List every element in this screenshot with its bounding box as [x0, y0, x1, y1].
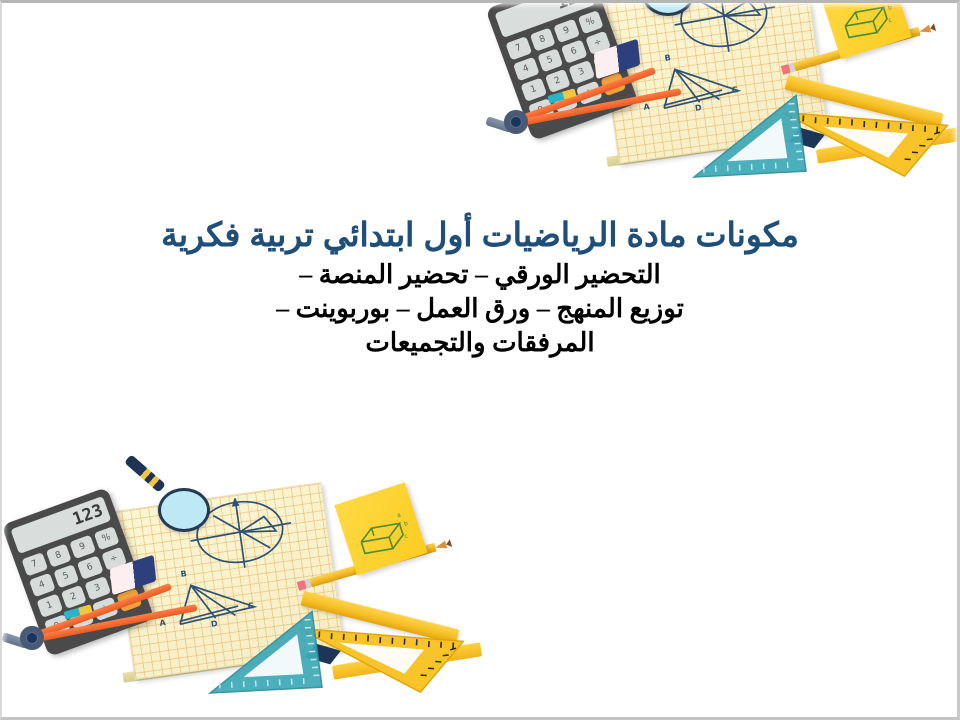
calculator-key: 7	[505, 36, 531, 60]
svg-text:b: b	[403, 520, 409, 528]
magnifier-handle	[124, 454, 166, 492]
calculator-key: 8	[529, 28, 555, 52]
cube-sketch-icon: a b c	[340, 488, 432, 580]
calculator-key: 8	[45, 544, 71, 568]
decoration-bottom-left: C²=L² B A C D x²+y 123 7 8 9 % 4 5 6	[14, 484, 484, 714]
calculator-key: 6	[561, 40, 587, 64]
svg-text:B: B	[664, 53, 671, 63]
svg-text:B: B	[180, 569, 187, 579]
compass	[6, 592, 226, 672]
slide-canvas: C²=L² B A C D x²+y 123 7 8 9 % 4 5	[0, 0, 960, 720]
calculator-key: 9	[69, 535, 95, 559]
svg-text:a: a	[396, 512, 402, 520]
page-title: مكونات مادة الرياضيات أول ابتدائي تربية …	[130, 215, 830, 255]
calculator-key: 5	[537, 48, 563, 72]
svg-text:c: c	[887, 17, 892, 25]
compass	[490, 76, 710, 156]
magnifier-icon	[158, 488, 210, 532]
svg-text:b: b	[887, 4, 893, 12]
svg-text:a: a	[880, 0, 886, 3]
slide-subtitle: التحضير الورقي – تحضير المنصة – توزيع ال…	[130, 258, 830, 360]
subtitle-line-2: توزيع المنهج – ورق العمل – بوربوينت –	[130, 292, 830, 326]
subtitle-line-3: المرفقات والتجميعات	[130, 326, 830, 360]
decoration-top-right: C²=L² B A C D x²+y 123 7 8 9 % 4 5	[498, 0, 960, 198]
calculator-key: %	[93, 526, 119, 550]
calculator-key: 6	[77, 556, 103, 580]
calculator-key: 9	[553, 19, 579, 43]
calculator-key: %	[577, 10, 603, 34]
set-square-teal	[202, 602, 330, 698]
cube-sketch-icon: a b c	[824, 0, 916, 64]
slide-text-block: مكونات مادة الرياضيات أول ابتدائي تربية …	[130, 215, 830, 360]
subtitle-line-1: التحضير الورقي – تحضير المنصة –	[130, 258, 830, 292]
compass-pivot	[504, 110, 528, 134]
calculator-key: 7	[21, 552, 47, 576]
svg-text:c: c	[403, 533, 408, 541]
set-square-teal	[686, 86, 814, 182]
compass-pivot	[20, 626, 44, 650]
calculator-key: 5	[53, 564, 79, 588]
